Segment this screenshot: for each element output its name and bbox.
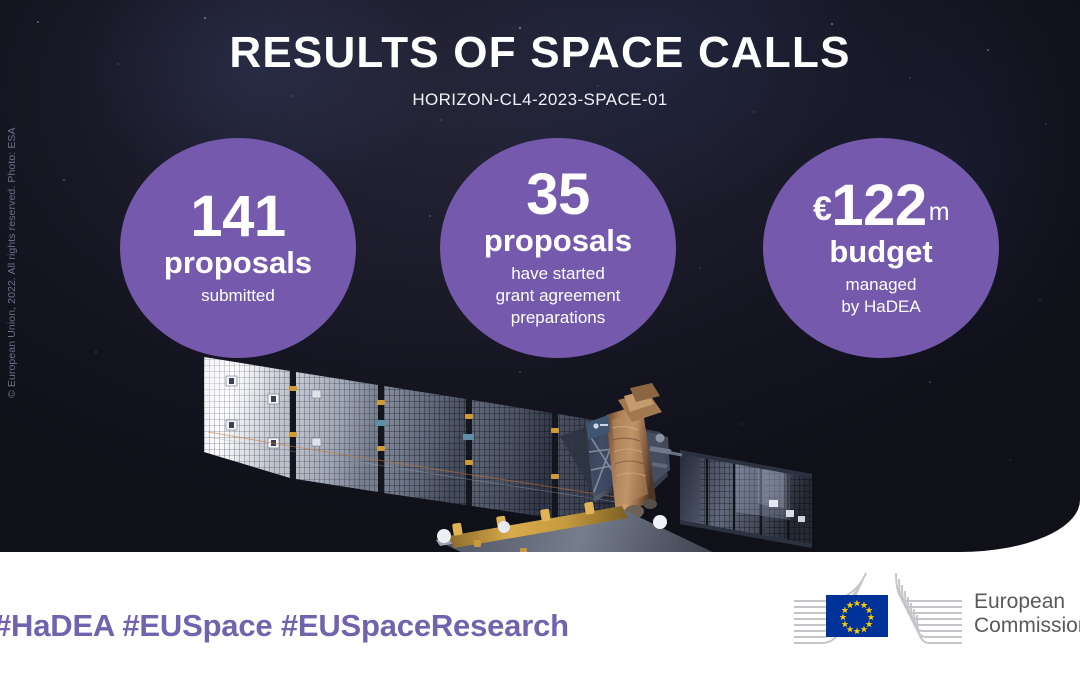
stat-sub-line: preparations: [496, 307, 621, 329]
infographic-poster: © European Union, 2022. All rights reser…: [0, 0, 1080, 675]
ec-wordmark: European Commission: [974, 590, 1080, 639]
stat-sub-line: grant agreement: [496, 285, 621, 307]
page-title: RESULTS OF SPACE CALLS: [0, 30, 1080, 76]
ec-wordmark-line1: European: [974, 590, 1080, 614]
stat-circle-grant-agreement: 35 proposals have started grant agreemen…: [440, 138, 676, 358]
stat-sub-line: managed: [841, 274, 920, 296]
stat-sub-line: by HaDEA: [841, 296, 920, 318]
stat-unit: m: [929, 198, 949, 226]
ec-emblem-icon: [792, 569, 964, 659]
stat-number: 141: [190, 189, 285, 245]
stat-sub-line: have started: [496, 263, 621, 285]
stat-circle-proposals-submitted: 141 proposals submitted: [120, 138, 356, 358]
stat-circle-budget: €122m budget managed by HaDEA: [763, 138, 999, 358]
stat-sublabel: have started grant agreement preparation…: [496, 263, 621, 328]
stat-label: proposals: [164, 247, 312, 279]
header-block: RESULTS OF SPACE CALLS HORIZON-CL4-2023-…: [0, 30, 1080, 110]
stat-label: budget: [829, 236, 932, 268]
stat-number: €122m: [813, 178, 949, 234]
call-identifier: HORIZON-CL4-2023-SPACE-01: [0, 90, 1080, 110]
stat-sublabel: managed by HaDEA: [841, 274, 920, 318]
stat-value: 122: [831, 173, 926, 238]
stat-label: proposals: [484, 225, 632, 257]
stat-sub-line: submitted: [201, 285, 275, 307]
european-commission-logo: European Commission: [792, 566, 1080, 662]
hashtag-tagline: #HaDEA #EUSpace #EUSpaceResearch: [0, 608, 569, 644]
stat-value: 141: [190, 184, 285, 249]
stat-value: 35: [526, 162, 590, 227]
ec-wordmark-line2: Commission: [974, 614, 1080, 638]
stat-sublabel: submitted: [201, 285, 275, 307]
stat-number: 35: [526, 167, 590, 223]
currency-symbol: €: [813, 190, 831, 228]
